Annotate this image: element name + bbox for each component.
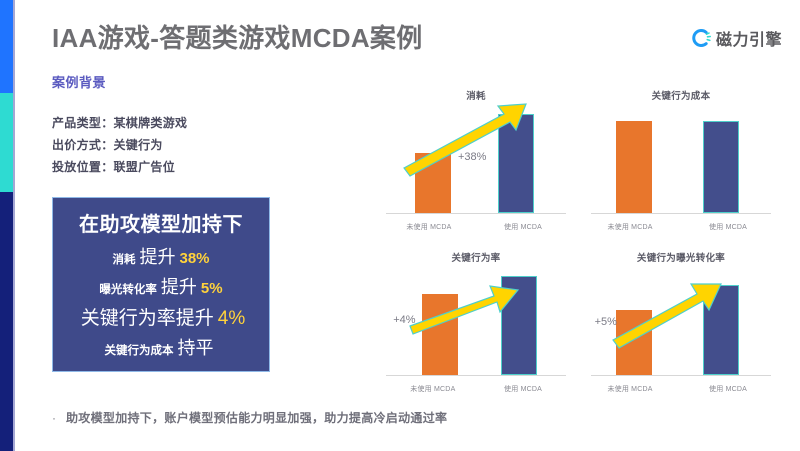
chart-category-label: 未使用 MCDA <box>587 222 673 232</box>
rail-segment-cyan <box>0 93 13 192</box>
callout-row: 曝光转化率 提升 5% <box>53 273 269 299</box>
background-item: 出价方式：关键行为 <box>52 134 302 156</box>
chart-category-label: 使用 MCDA <box>480 384 566 394</box>
bullet-dot-icon: · <box>52 410 56 426</box>
callout-action: 提升 <box>139 243 175 269</box>
chart-category-label: 使用 MCDA <box>685 384 771 394</box>
chart-delta-label: +5% <box>595 316 617 328</box>
callout-value: 4% <box>218 308 245 330</box>
bar-used <box>703 121 739 213</box>
charts-grid: 消耗 +38% 未使用 MCDA 使用 MCDA 关键行为成本 <box>378 84 788 399</box>
chart-exposure-conversion-rate: 关键行为曝光转化率 +5% 未使用 MCDA 使用 MCDA <box>583 246 779 398</box>
slide-canvas: IAA游戏-答题类游戏MCDA案例 磁力引擎 案例背景 产品类型：某棋牌类游戏 … <box>0 0 800 451</box>
callout-metric: 关键行为成本 <box>105 342 174 358</box>
chart-consumption: 消耗 +38% 未使用 MCDA 使用 MCDA <box>378 84 574 236</box>
bar-used <box>498 114 534 213</box>
brand-logo: 磁力引擎 <box>691 26 782 50</box>
chart-category-label: 使用 MCDA <box>685 222 771 232</box>
chart-x-axis <box>386 375 566 376</box>
rail-segment-navy <box>0 192 13 451</box>
bar-unused <box>616 310 652 375</box>
chart-title: 关键行为率 <box>378 250 574 264</box>
bar-used <box>501 276 537 375</box>
callout-title: 在助攻模型加持下 <box>53 208 269 237</box>
callout-value: 5% <box>201 280 223 297</box>
chart-plot-area: +38% <box>386 102 566 214</box>
bar-unused <box>616 121 652 213</box>
callout-metric: 曝光转化率 <box>99 281 157 297</box>
rail-edge-line <box>13 0 15 451</box>
footer-bullet: · 助攻模型加持下，账户模型预估能力明显加强，助力提高冷启动通过率 <box>52 410 447 426</box>
chart-x-axis <box>591 375 771 376</box>
callout-action: 关键行为率提升 <box>81 303 214 330</box>
chart-plot-area: +5% <box>591 264 771 376</box>
section-heading-background: 案例背景 <box>52 72 106 91</box>
chart-delta-label: +38% <box>458 151 486 163</box>
chart-title: 消耗 <box>378 88 574 102</box>
chart-delta-label: +4% <box>393 314 415 326</box>
chart-category-label: 未使用 MCDA <box>587 384 673 394</box>
background-item: 投放位置：联盟广告位 <box>52 156 302 178</box>
callout-row: 关键行为成本 持平 <box>53 334 269 360</box>
chart-x-axis <box>386 213 566 214</box>
chart-x-axis <box>591 213 771 214</box>
chart-title: 关键行为曝光转化率 <box>583 250 779 264</box>
chart-plot-area <box>591 102 771 214</box>
rail-segment-blue <box>0 0 13 93</box>
callout-row: 关键行为率提升 4% <box>53 303 269 330</box>
chart-title: 关键行为成本 <box>583 88 779 102</box>
bar-unused <box>422 294 458 375</box>
page-title: IAA游戏-答题类游戏MCDA案例 <box>52 18 423 55</box>
chart-category-label: 未使用 MCDA <box>390 384 476 394</box>
chart-category-label: 未使用 MCDA <box>386 222 472 232</box>
magnetic-engine-logo-icon <box>691 28 711 48</box>
chart-category-label: 使用 MCDA <box>480 222 566 232</box>
bar-unused <box>415 153 451 213</box>
callout-action: 持平 <box>178 334 214 360</box>
background-list: 产品类型：某棋牌类游戏 出价方式：关键行为 投放位置：联盟广告位 <box>52 112 302 178</box>
chart-key-action-cost: 关键行为成本 未使用 MCDA 使用 MCDA <box>583 84 779 236</box>
brand-name: 磁力引擎 <box>716 26 782 50</box>
chart-key-action-rate: 关键行为率 +4% 未使用 MCDA 使用 MCDA <box>378 246 574 398</box>
footer-text: 助攻模型加持下，账户模型预估能力明显加强，助力提高冷启动通过率 <box>66 410 447 426</box>
chart-plot-area: +4% <box>386 264 566 376</box>
callout-value: 38% <box>179 250 209 267</box>
results-callout-box: 在助攻模型加持下 消耗 提升 38% 曝光转化率 提升 5% 关键行为率提升 4… <box>52 197 270 372</box>
background-item: 产品类型：某棋牌类游戏 <box>52 112 302 134</box>
bar-used <box>703 285 739 375</box>
callout-action: 提升 <box>161 273 197 299</box>
callout-metric: 消耗 <box>112 251 135 267</box>
callout-row: 消耗 提升 38% <box>53 243 269 269</box>
